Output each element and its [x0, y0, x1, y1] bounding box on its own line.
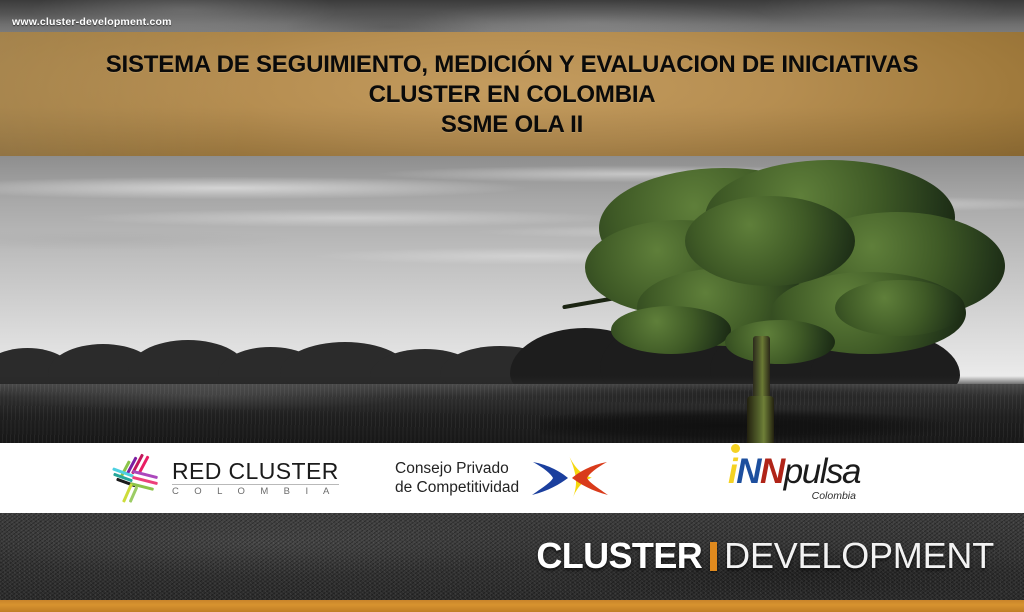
cluster-development-logo: CLUSTER DEVELOPMENT: [536, 535, 994, 577]
brand-word-development: DEVELOPMENT: [724, 535, 994, 577]
brand-word-cluster: CLUSTER: [536, 535, 702, 577]
title-line-1: SISTEMA DE SEGUIMIENTO, MEDICIÓN Y EVALU…: [106, 50, 919, 80]
website-url-text: www.cluster-development.com: [12, 16, 172, 28]
title-block: SISTEMA DE SEGUIMIENTO, MEDICIÓN Y EVALU…: [0, 32, 1024, 156]
innpulsa-subtitle: Colombia: [812, 490, 856, 502]
innpulsa-word-pulsa: pulsa: [784, 454, 860, 489]
bottom-accent-bar: [0, 600, 1024, 612]
title-line-2: CLUSTER EN COLOMBIA: [369, 80, 656, 110]
red-cluster-wordmark: RED CLUSTER C O L O M B I A: [172, 459, 339, 498]
presentation-slide: www.cluster-development.com SISTEMA DE S…: [0, 0, 1024, 612]
brand-separator-bar: [710, 542, 717, 571]
logo-innpulsa-colombia: i N N pulsa Colombia: [728, 443, 860, 513]
innpulsa-letter-n1: N: [736, 454, 760, 489]
cpc-line-2: de Competitividad: [395, 478, 519, 497]
innpulsa-letter-n2: N: [760, 454, 784, 489]
sponsor-logo-band: RED CLUSTER C O L O M B I A Consejo Priv…: [0, 443, 1024, 513]
logo-consejo-privado-de-competitividad: Consejo Privado de Competitividad: [395, 443, 609, 513]
brand-logo-band: CLUSTER DEVELOPMENT: [0, 513, 1024, 600]
logo-red-cluster-colombia: RED CLUSTER C O L O M B I A: [110, 443, 339, 513]
innpulsa-wordmark: i N N pulsa: [728, 454, 860, 489]
red-cluster-subtitle: C O L O M B I A: [172, 484, 339, 498]
title-line-3: SSME OLA II: [441, 110, 583, 140]
innpulsa-letter-i: i: [728, 454, 736, 489]
tree-icon: [585, 160, 1015, 443]
starburst-stripes-icon: [110, 453, 162, 503]
cpc-line-1: Consejo Privado: [395, 459, 519, 478]
tree-trunk-base: [747, 396, 774, 443]
landscape-photo: [0, 156, 1024, 443]
cpc-wordmark: Consejo Privado de Competitividad: [395, 459, 519, 497]
title-band: SISTEMA DE SEGUIMIENTO, MEDICIÓN Y EVALU…: [0, 32, 1024, 156]
swoosh-x-icon: [531, 455, 609, 501]
url-banner: www.cluster-development.com: [0, 0, 1024, 32]
red-cluster-name: RED CLUSTER: [172, 459, 339, 483]
